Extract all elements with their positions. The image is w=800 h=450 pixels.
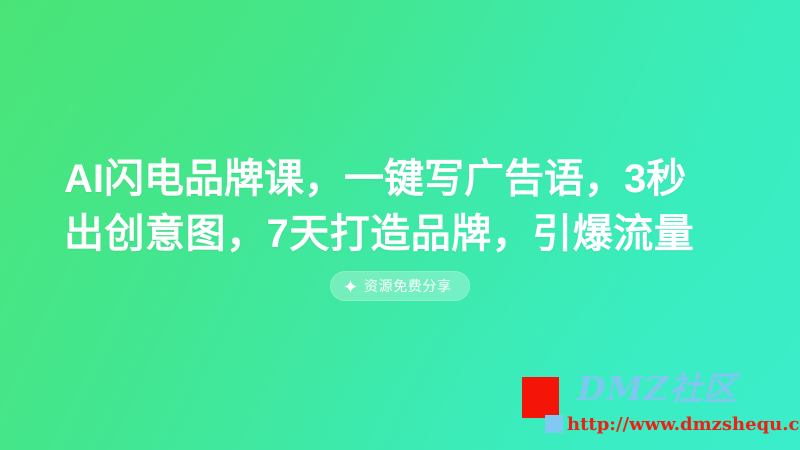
headline-line-2: 出创意图，7天打造品牌，引爆流量 — [64, 207, 742, 262]
watermark-blue-square — [545, 415, 563, 433]
free-resource-badge[interactable]: 资源免费分享 — [330, 271, 470, 301]
headline-line-1: AI闪电品牌课，一键写广告语，3秒 — [64, 152, 742, 207]
watermark: DMZ社区 http://www.dmzshequ.com — [520, 372, 782, 442]
watermark-url[interactable]: http://www.dmzshequ.com — [567, 415, 800, 435]
promo-banner: AI闪电品牌课，一键写广告语，3秒 出创意图，7天打造品牌，引爆流量 资源免费分… — [0, 0, 800, 450]
watermark-red-square — [522, 377, 559, 418]
watermark-brand-name: DMZ社区 — [577, 370, 737, 408]
badge-label: 资源免费分享 — [364, 279, 452, 293]
headline: AI闪电品牌课，一键写广告语，3秒 出创意图，7天打造品牌，引爆流量 — [64, 152, 742, 262]
sparkle-icon — [344, 280, 357, 293]
